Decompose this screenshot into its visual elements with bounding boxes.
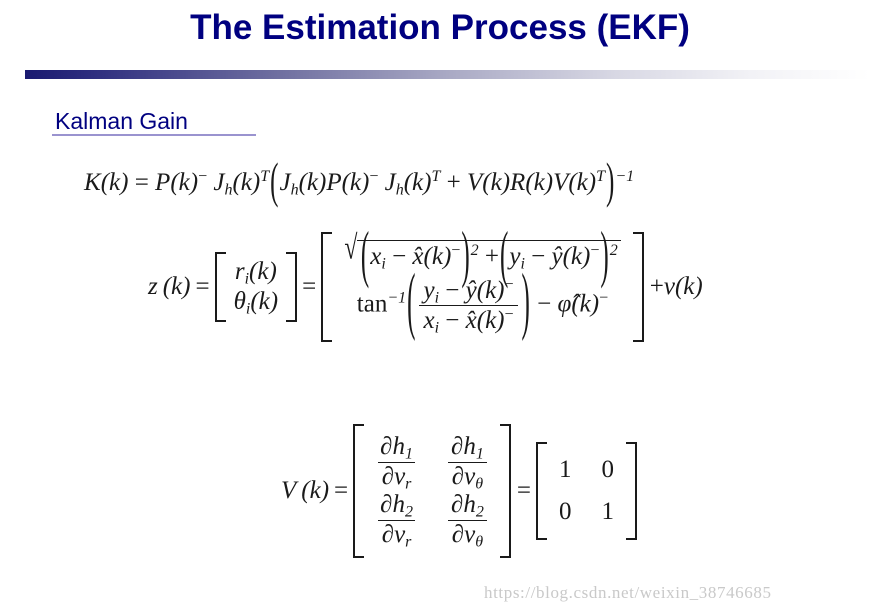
partials-grid: ∂h1 ∂vr ∂h1 ∂vθ ∂h2 ∂vr ∂h2 ∂vθ bbox=[368, 430, 496, 552]
num-y-index: i bbox=[435, 289, 439, 306]
cell-01-den-idx: θ bbox=[475, 475, 483, 492]
num-minus: − bbox=[445, 277, 459, 304]
range-y-prior-minus: − bbox=[590, 242, 599, 259]
fraction-denominator: xi − x̂(k)− bbox=[419, 305, 517, 334]
phi-hat-arg: (k) bbox=[571, 290, 599, 317]
radical-icon: √ bbox=[345, 230, 358, 272]
equation-noise-jacobian: V(k) = ∂h1 ∂vr ∂h1 ∂vθ ∂h2 ∂vr ∂h2 bbox=[281, 424, 637, 558]
bearing-minus: − bbox=[537, 290, 551, 317]
eq1-J3: J bbox=[385, 169, 396, 196]
bracket-left-identity bbox=[536, 442, 547, 540]
eq1-P-arg: (k) bbox=[170, 169, 198, 196]
cell-11-den-sym: ∂v bbox=[452, 521, 475, 548]
arctan-inverse-exponent: −1 bbox=[387, 290, 406, 307]
eq1-inverse: −1 bbox=[615, 168, 634, 185]
cell-10-den: ∂vr bbox=[378, 520, 416, 549]
eq2-measurement-expression: √(xi − x̂(k)−)2 +(yi − ŷ(k)−)2 tan−1( y… bbox=[321, 232, 644, 342]
eq1-P-prior-minus: − bbox=[198, 168, 207, 185]
range-arg: (k) bbox=[249, 258, 277, 285]
cell-01-num-sym: ∂h bbox=[451, 433, 476, 460]
eq2-equals-1: = bbox=[195, 273, 209, 301]
matrix-cell-1-1: ∂h2 ∂vθ bbox=[447, 492, 488, 548]
eq1-J2-sub: h bbox=[291, 181, 299, 198]
eq1-P2: P bbox=[326, 169, 341, 196]
matrix-body-partials: ∂h1 ∂vr ∂h1 ∂vθ ∂h2 ∂vr ∂h2 ∂vθ bbox=[364, 424, 500, 558]
eq1-V2-transpose: T bbox=[596, 168, 605, 185]
vector-row-bearing: θi(k) bbox=[230, 287, 282, 317]
eq3-partial-matrix: ∂h1 ∂vr ∂h1 ∂vθ ∂h2 ∂vr ∂h2 ∂vθ bbox=[353, 424, 511, 558]
eq1-J2: J bbox=[279, 169, 290, 196]
den-minus: − bbox=[445, 307, 459, 334]
bracket-left bbox=[215, 252, 226, 322]
matrix-body-identity: 1 0 0 1 bbox=[547, 442, 626, 540]
equation-kalman-gain: K(k) = P(k)− Jh(k)T(Jh(k)P(k)− Jh(k)T + … bbox=[84, 168, 634, 197]
cell-00-den-sym: ∂v bbox=[382, 463, 405, 490]
eq1-lhs-arg: (k) bbox=[101, 169, 129, 196]
bracket-left-big bbox=[321, 232, 332, 342]
identity-cell-0-1: 0 bbox=[601, 456, 614, 484]
eq3-lhs-arg: (k) bbox=[301, 477, 329, 505]
den-x-index: i bbox=[435, 319, 439, 336]
den-x-hat-arg: (k) bbox=[477, 307, 505, 334]
equation-measurement-model: z(k) = ri(k) θi(k) = √(xi − x̂(k)−)2 +(y… bbox=[148, 232, 703, 342]
bracket-right-matrix bbox=[500, 424, 511, 558]
vector-body: ri(k) θi(k) bbox=[226, 252, 286, 322]
cell-10-num: ∂h2 bbox=[376, 492, 417, 520]
eq1-J: J bbox=[213, 169, 224, 196]
eq1-J-transpose: T bbox=[260, 168, 269, 185]
cell-10-den-idx: r bbox=[405, 533, 411, 550]
range-square-2: 2 bbox=[610, 242, 618, 259]
title-divider-rule bbox=[25, 70, 870, 79]
phi-hat: φ̂ bbox=[557, 290, 571, 317]
bearing-symbol: θ bbox=[234, 288, 246, 315]
sqrt-group: √(xi − x̂(k)−)2 +(yi − ŷ(k)−)2 bbox=[344, 240, 621, 271]
range-x-prior-minus: − bbox=[451, 242, 460, 259]
cell-01-den-sym: ∂v bbox=[452, 463, 475, 490]
cell-10-num-sym: ∂h bbox=[380, 491, 405, 518]
eq3-identity-matrix: 1 0 0 1 bbox=[536, 442, 637, 540]
cell-11-den-idx: θ bbox=[475, 533, 483, 550]
measurement-body: √(xi − x̂(k)−)2 +(yi − ŷ(k)−)2 tan−1( y… bbox=[332, 232, 633, 342]
matrix-cell-0-1: ∂h1 ∂vθ bbox=[447, 434, 488, 490]
bracket-right bbox=[286, 252, 297, 322]
eq1-equals: = bbox=[135, 169, 149, 196]
eq1-close-paren: ) bbox=[606, 155, 614, 211]
eq1-R-arg: (k) bbox=[525, 169, 553, 196]
range-y-hat-arg: (k) bbox=[563, 243, 591, 270]
cell-01-num: ∂h1 bbox=[447, 434, 488, 462]
range-close-paren-2: ) bbox=[600, 221, 608, 292]
eq1-open-paren: ( bbox=[270, 155, 278, 211]
identity-cell-1-0: 0 bbox=[559, 498, 572, 526]
bracket-right-identity bbox=[626, 442, 637, 540]
identity-grid: 1 0 0 1 bbox=[553, 452, 620, 530]
eq1-V-arg: (k) bbox=[482, 169, 510, 196]
eq2-noise-plus: + bbox=[650, 273, 664, 301]
range-expression: √(xi − x̂(k)−)2 +(yi − ŷ(k)−)2 bbox=[340, 239, 625, 272]
eq1-V2: V bbox=[553, 169, 568, 196]
cell-00-num-sym: ∂h bbox=[380, 433, 405, 460]
den-x: x bbox=[423, 307, 434, 334]
arctan-function: tan bbox=[357, 290, 388, 317]
matrix-cell-1-0: ∂h2 ∂vr bbox=[376, 492, 417, 548]
range-minus-1: − bbox=[392, 243, 406, 270]
eq1-V: V bbox=[467, 169, 482, 196]
den-x-hat: x̂ bbox=[466, 307, 477, 334]
bearing-expression: tan−1( yi − ŷ(k)− xi − x̂(k)− ) − φ̂(k)… bbox=[340, 276, 625, 336]
cell-11-num-sym: ∂h bbox=[451, 491, 476, 518]
cell-01-den: ∂vθ bbox=[448, 462, 487, 491]
cell-11-num: ∂h2 bbox=[447, 492, 488, 520]
eq2-noise-v: v bbox=[664, 273, 675, 301]
bracket-right-big bbox=[633, 232, 644, 342]
cell-11-num-idx: 2 bbox=[476, 503, 484, 520]
eq1-J3-transpose: T bbox=[431, 168, 440, 185]
cell-01-num-idx: 1 bbox=[476, 445, 484, 462]
range-symbol: r bbox=[235, 258, 245, 285]
cell-00-num: ∂h1 bbox=[376, 434, 417, 462]
eq1-P2-arg: (k) bbox=[342, 169, 370, 196]
range-x: x bbox=[370, 243, 381, 270]
eq1-lhs: K bbox=[84, 169, 101, 196]
eq3-lhs: V bbox=[281, 477, 296, 505]
page-title: The Estimation Process (EKF) bbox=[0, 8, 880, 48]
radicand: (xi − x̂(k)−)2 +(yi − ŷ(k)−)2 bbox=[357, 240, 621, 271]
matrix-cell-0-0: ∂h1 ∂vr bbox=[376, 434, 417, 490]
eq2-lhs: z bbox=[148, 273, 158, 301]
eq2-lhs-arg: (k) bbox=[163, 273, 191, 301]
eq1-plus: + bbox=[447, 169, 461, 196]
cell-10-den-sym: ∂v bbox=[382, 521, 405, 548]
eq2-observation-vector: ri(k) θi(k) bbox=[215, 252, 297, 322]
eq2-equals-2: = bbox=[302, 273, 316, 301]
eq3-equals-2: = bbox=[517, 477, 531, 505]
section-heading-kalman-gain: Kalman Gain bbox=[55, 108, 188, 135]
range-y: y bbox=[509, 243, 520, 270]
range-x-index: i bbox=[381, 255, 385, 272]
eq1-V2-arg: (k) bbox=[568, 169, 596, 196]
bearing-open-paren: ( bbox=[407, 262, 415, 346]
range-open-paren-1: ( bbox=[361, 221, 369, 292]
range-close-paren-1: ) bbox=[461, 221, 469, 292]
range-square-1: 2 bbox=[471, 242, 479, 259]
cell-10-num-idx: 2 bbox=[405, 503, 413, 520]
eq1-J3-arg: (k) bbox=[404, 169, 432, 196]
cell-00-den-idx: r bbox=[405, 475, 411, 492]
eq1-J3-sub: h bbox=[396, 181, 404, 198]
eq1-J-arg: (k) bbox=[232, 169, 260, 196]
num-y: y bbox=[423, 277, 434, 304]
cell-11-den: ∂vθ bbox=[448, 520, 487, 549]
range-y-hat: ŷ bbox=[552, 243, 563, 270]
identity-cell-1-1: 1 bbox=[601, 498, 614, 526]
cell-00-num-idx: 1 bbox=[405, 445, 413, 462]
range-plus: + bbox=[485, 243, 499, 270]
eq1-P: P bbox=[155, 169, 170, 196]
range-minus-2: − bbox=[531, 243, 545, 270]
eq2-noise-arg: (k) bbox=[675, 273, 703, 301]
bracket-left-matrix bbox=[353, 424, 364, 558]
range-x-hat-arg: (k) bbox=[424, 243, 452, 270]
eq1-R: R bbox=[510, 169, 525, 196]
source-watermark: https://blog.csdn.net/weixin_38746685 bbox=[484, 583, 772, 603]
identity-cell-0-0: 1 bbox=[559, 456, 572, 484]
cell-00-den: ∂vr bbox=[378, 462, 416, 491]
den-prior-minus: − bbox=[505, 306, 514, 323]
eq1-J2-arg: (k) bbox=[299, 169, 327, 196]
vector-row-range: ri(k) bbox=[230, 257, 282, 287]
eq1-P2-prior-minus: − bbox=[369, 168, 378, 185]
eq3-equals-1: = bbox=[334, 477, 348, 505]
range-open-paren-2: ( bbox=[500, 221, 508, 292]
bearing-arg: (k) bbox=[250, 288, 278, 315]
bearing-close-paren: ) bbox=[522, 262, 530, 346]
section-heading-underline bbox=[52, 134, 256, 136]
